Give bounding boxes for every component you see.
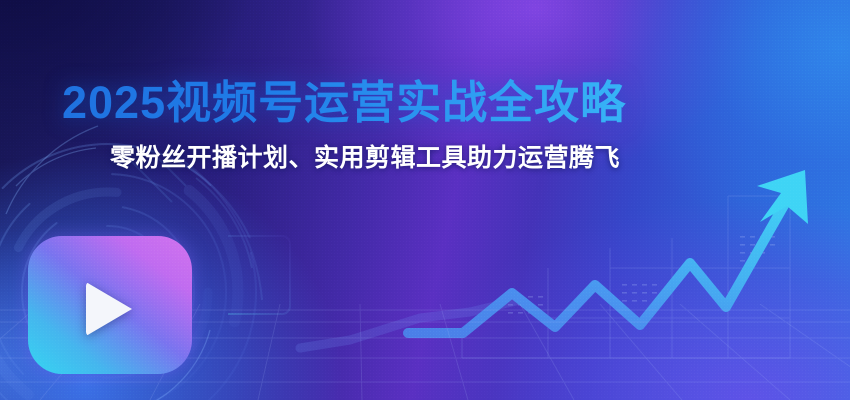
promo-banner: 2025视频号运营实战全攻略 零粉丝开播计划、实用剪辑工具助力运营腾飞 bbox=[0, 0, 850, 400]
noise-texture-overlay bbox=[0, 0, 850, 400]
page-title: 2025视频号运营实战全攻略 bbox=[62, 66, 626, 131]
page-subtitle: 零粉丝开播计划、实用剪辑工具助力运营腾飞 bbox=[110, 138, 620, 174]
